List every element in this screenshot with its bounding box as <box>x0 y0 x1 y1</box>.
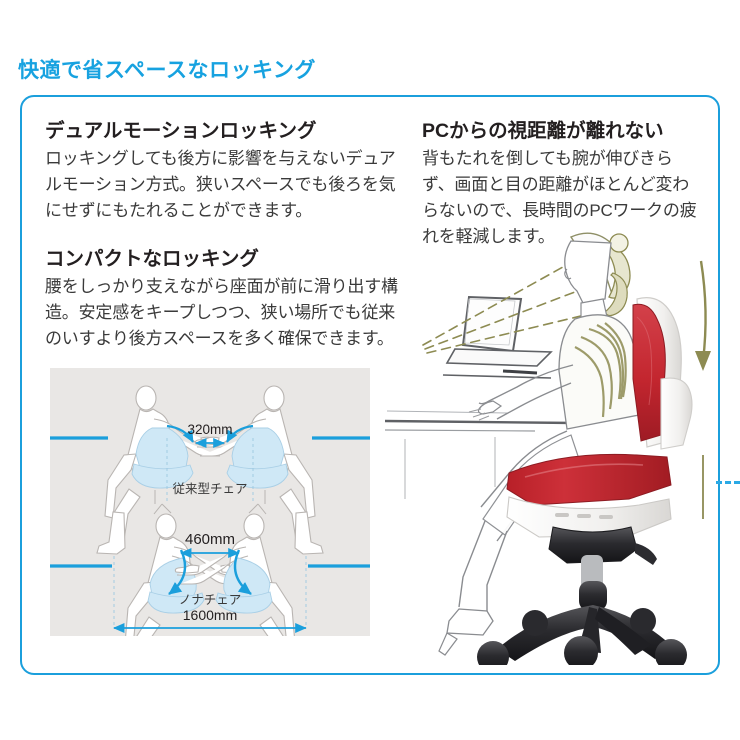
diagram-conventional-scene: 320mm 従来型チェア <box>50 386 370 554</box>
feature-body-dual-motion: ロッキングしても後方に影響を与えないデュアルモーション方式。狭いスペースでも後ろ… <box>45 146 400 223</box>
section-title: 快適で省スペースなロッキング <box>18 54 316 84</box>
infographic-page: 快適で省スペースなロッキング デュアルモーションロッキング ロッキングしても後方… <box>0 0 740 740</box>
feature-heading-dual-motion: デュアルモーションロッキング <box>45 118 400 144</box>
motion-arrow-icon <box>695 261 711 519</box>
measure-1600mm: 1600mm <box>183 607 237 623</box>
spacing-comparison-diagram: 320mm 従来型チェア <box>50 368 370 636</box>
feature-body-compact: 腰をしっかり支えながら座面が前に滑り出す構造。安定感をキープしつつ、狭い場所でも… <box>45 274 400 351</box>
feature-heading-compact: コンパクトなロッキング <box>45 246 400 272</box>
left-text-column: デュアルモーションロッキング ロッキングしても後方に影響を与えないデュアルモーシ… <box>45 118 400 352</box>
feature-heading-pc-distance: PCからの視距離が離れない <box>422 118 702 144</box>
measure-320mm: 320mm <box>187 422 232 437</box>
diagram-nona-scene: 460mm ノナチェア 1600mm <box>50 514 370 636</box>
label-nona-chair: ノナチェア <box>179 593 242 607</box>
label-conventional-chair: 従来型チェア <box>172 482 247 496</box>
person-chair-illustration <box>385 225 720 665</box>
measure-460mm: 460mm <box>185 531 235 548</box>
